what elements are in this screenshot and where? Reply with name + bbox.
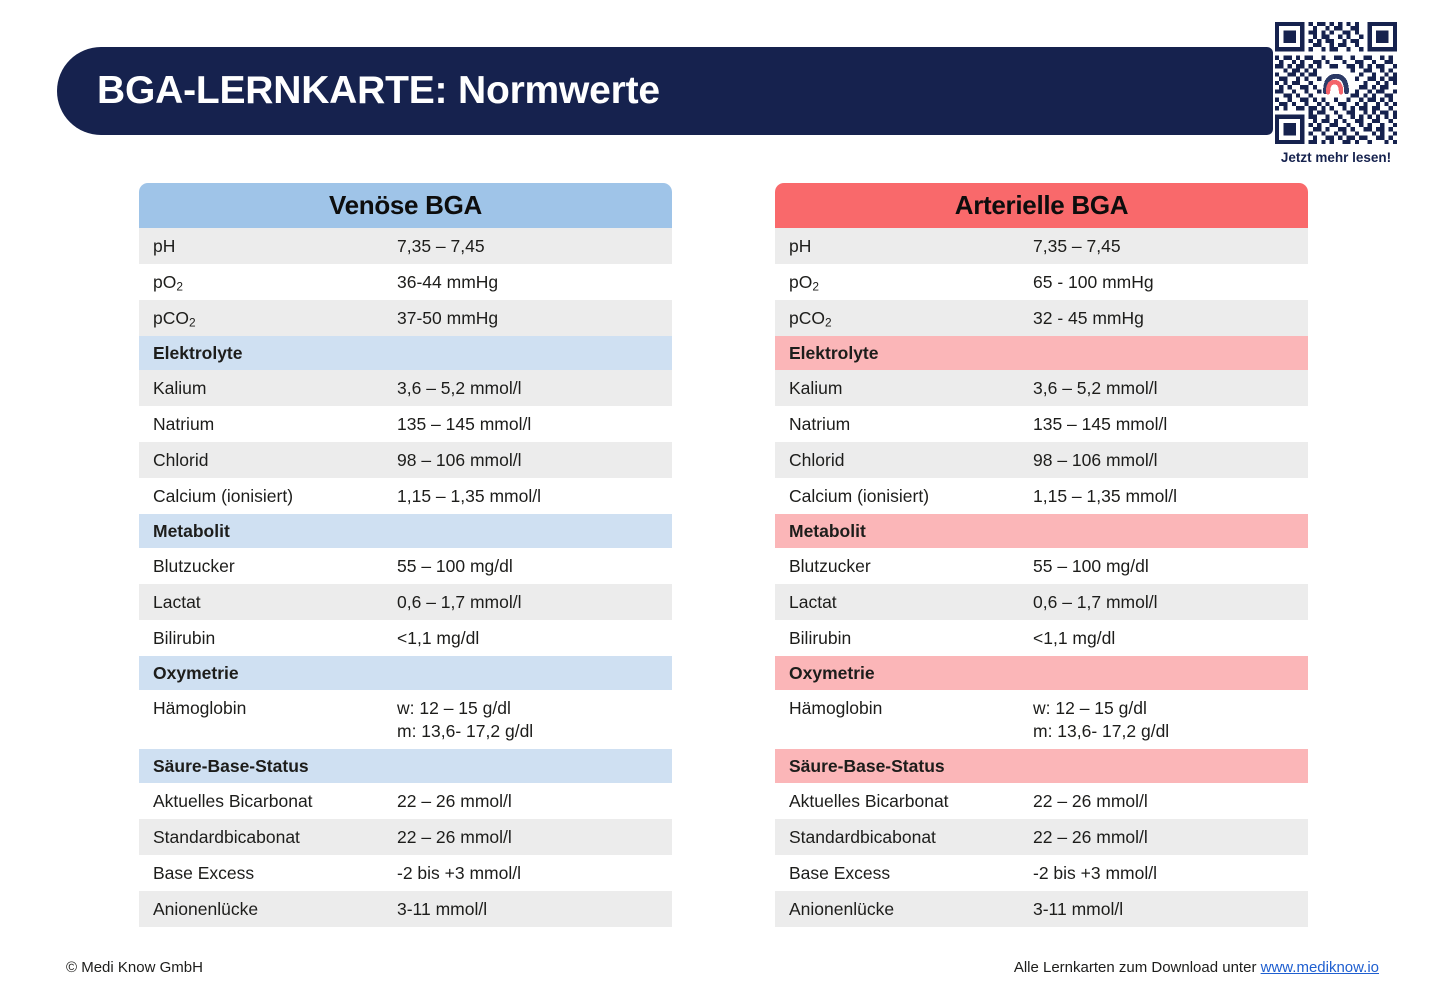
row-value: 22 – 26 mmol/l — [1033, 826, 1308, 849]
row-label: pCO2 — [789, 307, 1033, 330]
row-value: 65 - 100 mmHg — [1033, 271, 1308, 294]
row-value: 98 – 106 mmol/l — [397, 449, 672, 472]
table-row: pO265 - 100 mmHg — [775, 264, 1308, 300]
row-label: Anionenlücke — [153, 898, 397, 921]
table-section-header: Oxymetrie — [775, 656, 1308, 690]
table-row: Blutzucker55 – 100 mg/dl — [775, 548, 1308, 584]
table-row: Hämoglobinw: 12 – 15 g/dl m: 13,6- 17,2 … — [775, 690, 1308, 749]
table-venous-title: Venöse BGA — [139, 183, 672, 228]
table-row: Base Excess-2 bis +3 mmol/l — [139, 855, 672, 891]
row-label: Natrium — [153, 413, 397, 436]
row-value: 55 – 100 mg/dl — [1033, 555, 1308, 578]
table-arterial-title: Arterielle BGA — [775, 183, 1308, 228]
row-label: Hämoglobin — [789, 697, 1033, 720]
row-label: Chlorid — [789, 449, 1033, 472]
table-arterial-body: pH7,35 – 7,45pO265 - 100 mmHgpCO232 - 45… — [775, 228, 1308, 927]
row-value: 3-11 mmol/l — [397, 898, 672, 921]
row-label: Blutzucker — [789, 555, 1033, 578]
table-section-header: Oxymetrie — [139, 656, 672, 690]
table-venous-body: pH7,35 – 7,45pO236-44 mmHgpCO237-50 mmHg… — [139, 228, 672, 927]
table-row: Kalium3,6 – 5,2 mmol/l — [139, 370, 672, 406]
table-row: Anionenlücke3-11 mmol/l — [775, 891, 1308, 927]
qr-caption: Jetzt mehr lesen! — [1266, 150, 1406, 165]
table-row: Natrium135 – 145 mmol/l — [139, 406, 672, 442]
footer-copyright: © Medi Know GmbH — [66, 959, 203, 976]
table-section-header: Metabolit — [775, 514, 1308, 548]
row-value: 0,6 – 1,7 mmol/l — [1033, 591, 1308, 614]
table-row: Aktuelles Bicarbonat22 – 26 mmol/l — [775, 783, 1308, 819]
table-row: Bilirubin<1,1 mg/dl — [775, 620, 1308, 656]
row-label: Kalium — [153, 377, 397, 400]
row-label: Bilirubin — [153, 627, 397, 650]
row-label: Chlorid — [153, 449, 397, 472]
row-label: Calcium (ionisiert) — [789, 485, 1033, 508]
table-row: Blutzucker55 – 100 mg/dl — [139, 548, 672, 584]
table-row: Aktuelles Bicarbonat22 – 26 mmol/l — [139, 783, 672, 819]
section-label: Säure-Base-Status — [153, 755, 672, 778]
table-arterial: Arterielle BGA pH7,35 – 7,45pO265 - 100 … — [775, 183, 1308, 927]
section-label: Metabolit — [789, 520, 1308, 543]
row-value: 98 – 106 mmol/l — [1033, 449, 1308, 472]
row-value: <1,1 mg/dl — [1033, 627, 1308, 650]
row-value: 0,6 – 1,7 mmol/l — [397, 591, 672, 614]
page-title-primary: BGA-LERNKARTE: — [97, 69, 447, 112]
table-row: Anionenlücke3-11 mmol/l — [139, 891, 672, 927]
row-label: pH — [153, 235, 397, 258]
page-title-secondary: Normwerte — [447, 69, 660, 112]
table-row: Lactat0,6 – 1,7 mmol/l — [775, 584, 1308, 620]
footer-download-note: Alle Lernkarten zum Download unter www.m… — [1014, 959, 1379, 976]
table-row: Chlorid98 – 106 mmol/l — [139, 442, 672, 478]
row-value: 22 – 26 mmol/l — [397, 790, 672, 813]
table-row: Natrium135 – 145 mmol/l — [775, 406, 1308, 442]
page-header-band: BGA-LERNKARTE: Normwerte — [57, 47, 1273, 135]
row-value: w: 12 – 15 g/dl m: 13,6- 17,2 g/dl — [397, 697, 672, 743]
row-label: Aktuelles Bicarbonat — [789, 790, 1033, 813]
table-row: Kalium3,6 – 5,2 mmol/l — [775, 370, 1308, 406]
row-value: 7,35 – 7,45 — [397, 235, 672, 258]
section-label: Oxymetrie — [153, 662, 672, 685]
table-row: Lactat0,6 – 1,7 mmol/l — [139, 584, 672, 620]
qr-code-icon[interactable] — [1275, 22, 1397, 144]
row-label: pH — [789, 235, 1033, 258]
table-row: pH7,35 – 7,45 — [139, 228, 672, 264]
table-row: Hämoglobinw: 12 – 15 g/dl m: 13,6- 17,2 … — [139, 690, 672, 749]
row-label: Calcium (ionisiert) — [153, 485, 397, 508]
table-row: Base Excess-2 bis +3 mmol/l — [775, 855, 1308, 891]
subscript: 2 — [812, 280, 819, 294]
section-label: Elektrolyte — [153, 342, 672, 365]
row-label: Base Excess — [153, 862, 397, 885]
table-section-header: Elektrolyte — [775, 336, 1308, 370]
subscript: 2 — [176, 280, 183, 294]
row-label: Standardbicabonat — [153, 826, 397, 849]
table-section-header: Säure-Base-Status — [775, 749, 1308, 783]
table-section-header: Metabolit — [139, 514, 672, 548]
row-value: 135 – 145 mmol/l — [397, 413, 672, 436]
row-label: pO2 — [789, 271, 1033, 294]
section-label: Säure-Base-Status — [789, 755, 1308, 778]
row-label: Aktuelles Bicarbonat — [153, 790, 397, 813]
row-value: 36-44 mmHg — [397, 271, 672, 294]
section-label: Oxymetrie — [789, 662, 1308, 685]
table-row: Standardbicabonat22 – 26 mmol/l — [139, 819, 672, 855]
table-section-header: Elektrolyte — [139, 336, 672, 370]
row-value: -2 bis +3 mmol/l — [1033, 862, 1308, 885]
table-row: pCO232 - 45 mmHg — [775, 300, 1308, 336]
row-label: pO2 — [153, 271, 397, 294]
table-row: Standardbicabonat22 – 26 mmol/l — [775, 819, 1308, 855]
footer-download-text: Alle Lernkarten zum Download unter — [1014, 959, 1261, 976]
row-label: Anionenlücke — [789, 898, 1033, 921]
row-label: Hämoglobin — [153, 697, 397, 720]
row-value: 7,35 – 7,45 — [1033, 235, 1308, 258]
subscript: 2 — [189, 316, 196, 330]
section-label: Elektrolyte — [789, 342, 1308, 365]
row-value: 3,6 – 5,2 mmol/l — [1033, 377, 1308, 400]
row-label: Lactat — [153, 591, 397, 614]
table-row: Calcium (ionisiert)1,15 – 1,35 mmol/l — [139, 478, 672, 514]
row-value: w: 12 – 15 g/dl m: 13,6- 17,2 g/dl — [1033, 697, 1308, 743]
row-label: pCO2 — [153, 307, 397, 330]
table-venous: Venöse BGA pH7,35 – 7,45pO236-44 mmHgpCO… — [139, 183, 672, 927]
row-value: 55 – 100 mg/dl — [397, 555, 672, 578]
table-row: Calcium (ionisiert)1,15 – 1,35 mmol/l — [775, 478, 1308, 514]
table-row: pO236-44 mmHg — [139, 264, 672, 300]
row-label: Lactat — [789, 591, 1033, 614]
qr-block[interactable]: Jetzt mehr lesen! — [1266, 22, 1406, 165]
page-footer: © Medi Know GmbH Alle Lernkarten zum Dow… — [0, 959, 1445, 983]
row-value: 22 – 26 mmol/l — [397, 826, 672, 849]
row-label: Bilirubin — [789, 627, 1033, 650]
row-label: Standardbicabonat — [789, 826, 1033, 849]
row-label: Blutzucker — [153, 555, 397, 578]
row-value: 37-50 mmHg — [397, 307, 672, 330]
row-value: -2 bis +3 mmol/l — [397, 862, 672, 885]
row-value: 22 – 26 mmol/l — [1033, 790, 1308, 813]
table-row: Bilirubin<1,1 mg/dl — [139, 620, 672, 656]
row-value: 135 – 145 mmol/l — [1033, 413, 1308, 436]
row-value: 3-11 mmol/l — [1033, 898, 1308, 921]
row-value: 1,15 – 1,35 mmol/l — [397, 485, 672, 508]
table-row: Chlorid98 – 106 mmol/l — [775, 442, 1308, 478]
table-row: pH7,35 – 7,45 — [775, 228, 1308, 264]
table-row: pCO237-50 mmHg — [139, 300, 672, 336]
subscript: 2 — [825, 316, 832, 330]
row-value: 32 - 45 mmHg — [1033, 307, 1308, 330]
row-value: 3,6 – 5,2 mmol/l — [397, 377, 672, 400]
row-label: Base Excess — [789, 862, 1033, 885]
row-label: Natrium — [789, 413, 1033, 436]
row-value: <1,1 mg/dl — [397, 627, 672, 650]
row-value: 1,15 – 1,35 mmol/l — [1033, 485, 1308, 508]
row-label: Kalium — [789, 377, 1033, 400]
page-title: BGA-LERNKARTE: Normwerte — [97, 69, 660, 113]
mediknow-link[interactable]: www.mediknow.io — [1261, 959, 1379, 976]
table-section-header: Säure-Base-Status — [139, 749, 672, 783]
section-label: Metabolit — [153, 520, 672, 543]
